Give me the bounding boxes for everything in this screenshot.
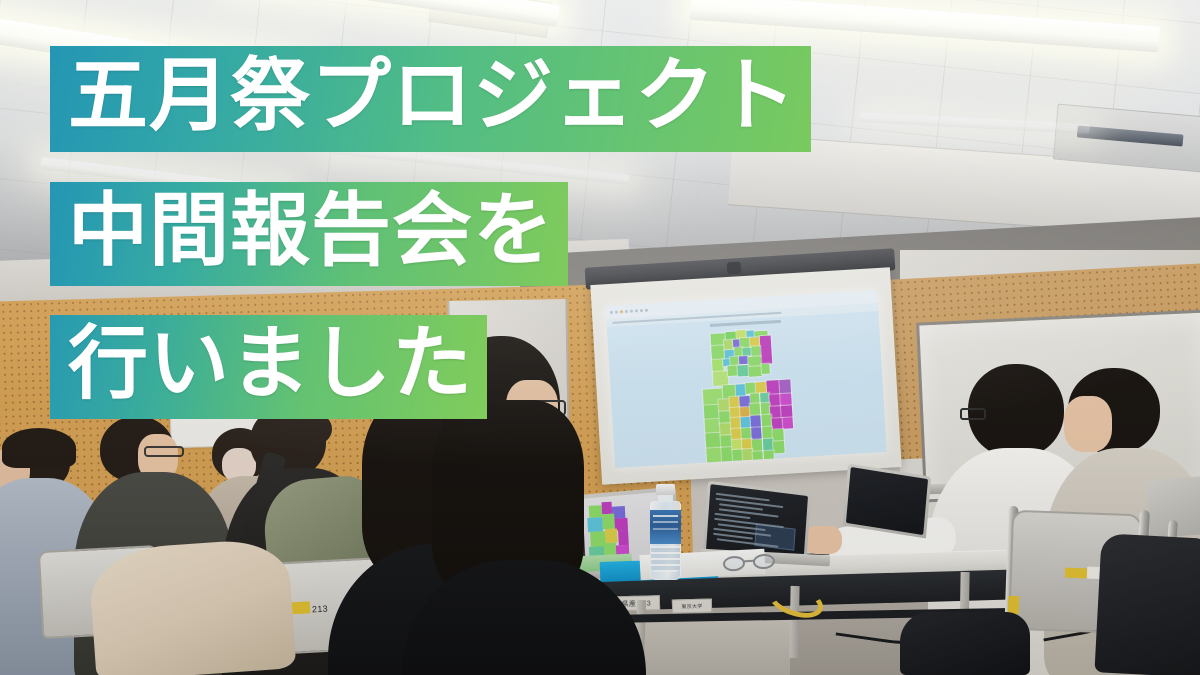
eyeglasses-icon (960, 408, 986, 420)
backpack (1094, 533, 1200, 675)
map-cell (748, 366, 762, 377)
map-cell (781, 405, 793, 417)
projected-slide (606, 290, 887, 468)
ceiling-camera-icon (727, 262, 742, 275)
map-cell (605, 528, 618, 543)
map-cell (704, 419, 720, 434)
map-cell (761, 364, 770, 374)
map-cell (735, 384, 747, 396)
map-cell (721, 447, 733, 462)
browser-dot-icon (615, 310, 618, 313)
map-cell (751, 346, 760, 357)
map-cell (760, 403, 770, 415)
bottle-cap (656, 484, 675, 495)
map-cell (729, 397, 739, 408)
hair (2, 428, 76, 468)
browser-dot-icon (630, 310, 633, 313)
bottle-neck (658, 494, 673, 502)
water-bottle (650, 484, 681, 580)
slide-title-text (710, 320, 781, 327)
map-cell (732, 450, 742, 461)
title-line-2-banner: 中間報告会を (50, 182, 568, 286)
map-cell (746, 383, 756, 394)
map-cell (721, 435, 733, 447)
map-cell (783, 417, 793, 429)
map-cell (712, 360, 724, 372)
map-cell (719, 411, 731, 423)
map-cell (704, 405, 720, 420)
screenshot-root: 213 (0, 0, 1200, 675)
map-cell (740, 417, 750, 428)
map-cell (731, 428, 741, 439)
map-cell (601, 502, 612, 515)
eyeglasses-icon (144, 446, 184, 457)
map-cell (587, 517, 602, 532)
map-cell (752, 451, 763, 462)
grid-map-visualization (697, 326, 813, 450)
map-cell (773, 429, 785, 441)
map-cell (779, 379, 791, 394)
map-cell (742, 438, 752, 449)
browser-dot-icon (620, 310, 623, 313)
map-cell (732, 439, 742, 450)
title-line-3-banner: 行いました (50, 315, 487, 419)
map-cell (772, 418, 784, 430)
map-cell (742, 449, 752, 460)
chair-sticker (1065, 568, 1087, 579)
map-cell (711, 345, 725, 360)
bottle-ribs (651, 546, 680, 572)
map-cell (740, 407, 750, 418)
laptop-grid-map-visualization (584, 499, 629, 561)
eyeglasses-icon (722, 551, 777, 575)
map-cell (749, 404, 761, 416)
browser-dot-icon (640, 309, 643, 312)
map-cell (741, 428, 751, 439)
map-cell (720, 423, 732, 435)
map-cell (731, 418, 741, 429)
lens (752, 553, 775, 569)
browser-dot-icon (625, 310, 628, 313)
hand (804, 526, 842, 554)
browser-dot-icon (610, 311, 613, 314)
map-cell (751, 439, 763, 451)
map-cell (762, 426, 774, 438)
table-asset-label: 東京大学 (672, 598, 712, 613)
map-cell (759, 336, 772, 365)
chair-number-label: 213 (312, 604, 328, 615)
projector-screen (590, 267, 901, 484)
map-cell (719, 399, 731, 411)
map-cell (730, 407, 740, 418)
map-cell (769, 394, 781, 406)
face (1064, 396, 1112, 452)
map-cell (737, 365, 748, 376)
map-cell (602, 514, 615, 529)
lens (723, 555, 746, 571)
map-cell (773, 441, 785, 453)
bag-on-floor (900, 612, 1030, 675)
map-cell (780, 393, 792, 405)
map-cell (727, 366, 737, 376)
map-cell (761, 415, 773, 427)
browser-dot-icon (645, 309, 648, 312)
map-cell (713, 371, 729, 386)
map-cell (589, 505, 602, 518)
map-cell (750, 415, 762, 427)
browser-dot-icon (635, 309, 638, 312)
map-cell (705, 433, 721, 448)
map-cell (706, 447, 722, 462)
title-line-1-banner: 五月祭プロジェクト (50, 46, 811, 152)
map-cell (762, 438, 774, 450)
bottle-label (650, 510, 681, 544)
map-cell (763, 450, 774, 461)
laptop-screen (846, 467, 928, 535)
map-cell (750, 393, 760, 404)
map-cell (751, 427, 763, 439)
map-cell (756, 382, 767, 393)
map-cell (618, 530, 629, 545)
map-cell (760, 392, 770, 403)
